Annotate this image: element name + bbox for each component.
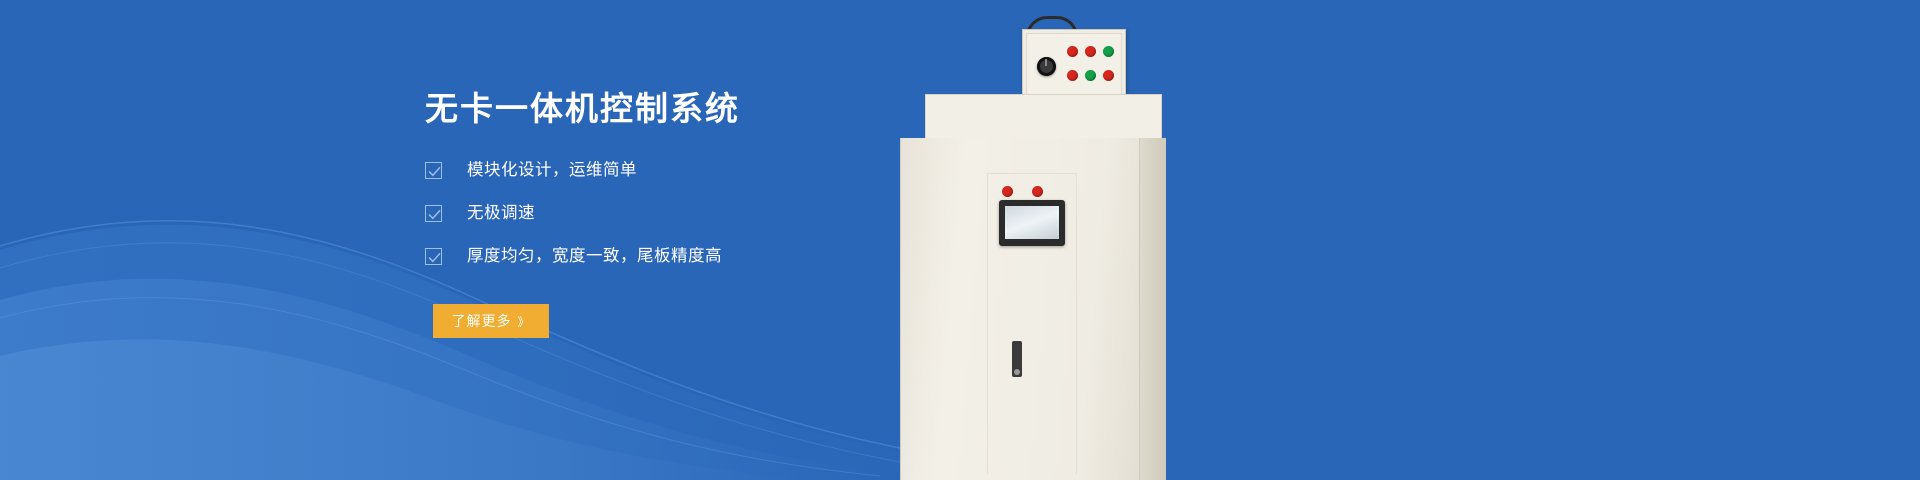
chevron-right-icon: 》	[517, 313, 530, 330]
check-square-icon	[425, 248, 442, 265]
learn-more-label: 了解更多	[451, 311, 511, 331]
main-cabinet-body	[900, 138, 1166, 480]
top-control-panel	[1022, 29, 1126, 100]
lamp-red-1[interactable]	[1067, 46, 1078, 57]
control-panel-face	[1026, 33, 1122, 96]
indicator-red-left[interactable]	[1002, 186, 1013, 197]
indicator-red-right[interactable]	[1032, 186, 1043, 197]
feature-label: 模块化设计，运维简单	[467, 159, 637, 181]
cabinet-top-section	[925, 94, 1162, 144]
selector-knob[interactable]	[1037, 57, 1056, 76]
lamp-green-1[interactable]	[1103, 46, 1114, 57]
check-glyph	[427, 208, 442, 221]
feature-label: 无极调速	[467, 202, 535, 224]
check-glyph	[427, 165, 442, 178]
lamp-red-3[interactable]	[1067, 70, 1078, 81]
lamp-red-2[interactable]	[1085, 46, 1096, 57]
touchscreen-hmi[interactable]	[999, 200, 1065, 246]
door-handle[interactable]	[1012, 341, 1022, 377]
industrial-control-cabinet-photo	[900, 0, 1190, 480]
feature-label: 厚度均匀，宽度一致，尾板精度高	[467, 245, 722, 267]
check-glyph	[427, 251, 442, 264]
learn-more-button[interactable]: 了解更多 》	[433, 304, 549, 338]
hero-banner: 无卡一体机控制系统 模块化设计，运维简单 无极调速	[0, 0, 1920, 480]
cabinet-side-edge	[1140, 138, 1166, 480]
check-square-icon	[425, 205, 442, 222]
lamp-green-2[interactable]	[1085, 70, 1096, 81]
check-square-icon	[425, 162, 442, 179]
lamp-red-4[interactable]	[1103, 70, 1114, 81]
hmi-screen-surface[interactable]	[1005, 206, 1059, 239]
